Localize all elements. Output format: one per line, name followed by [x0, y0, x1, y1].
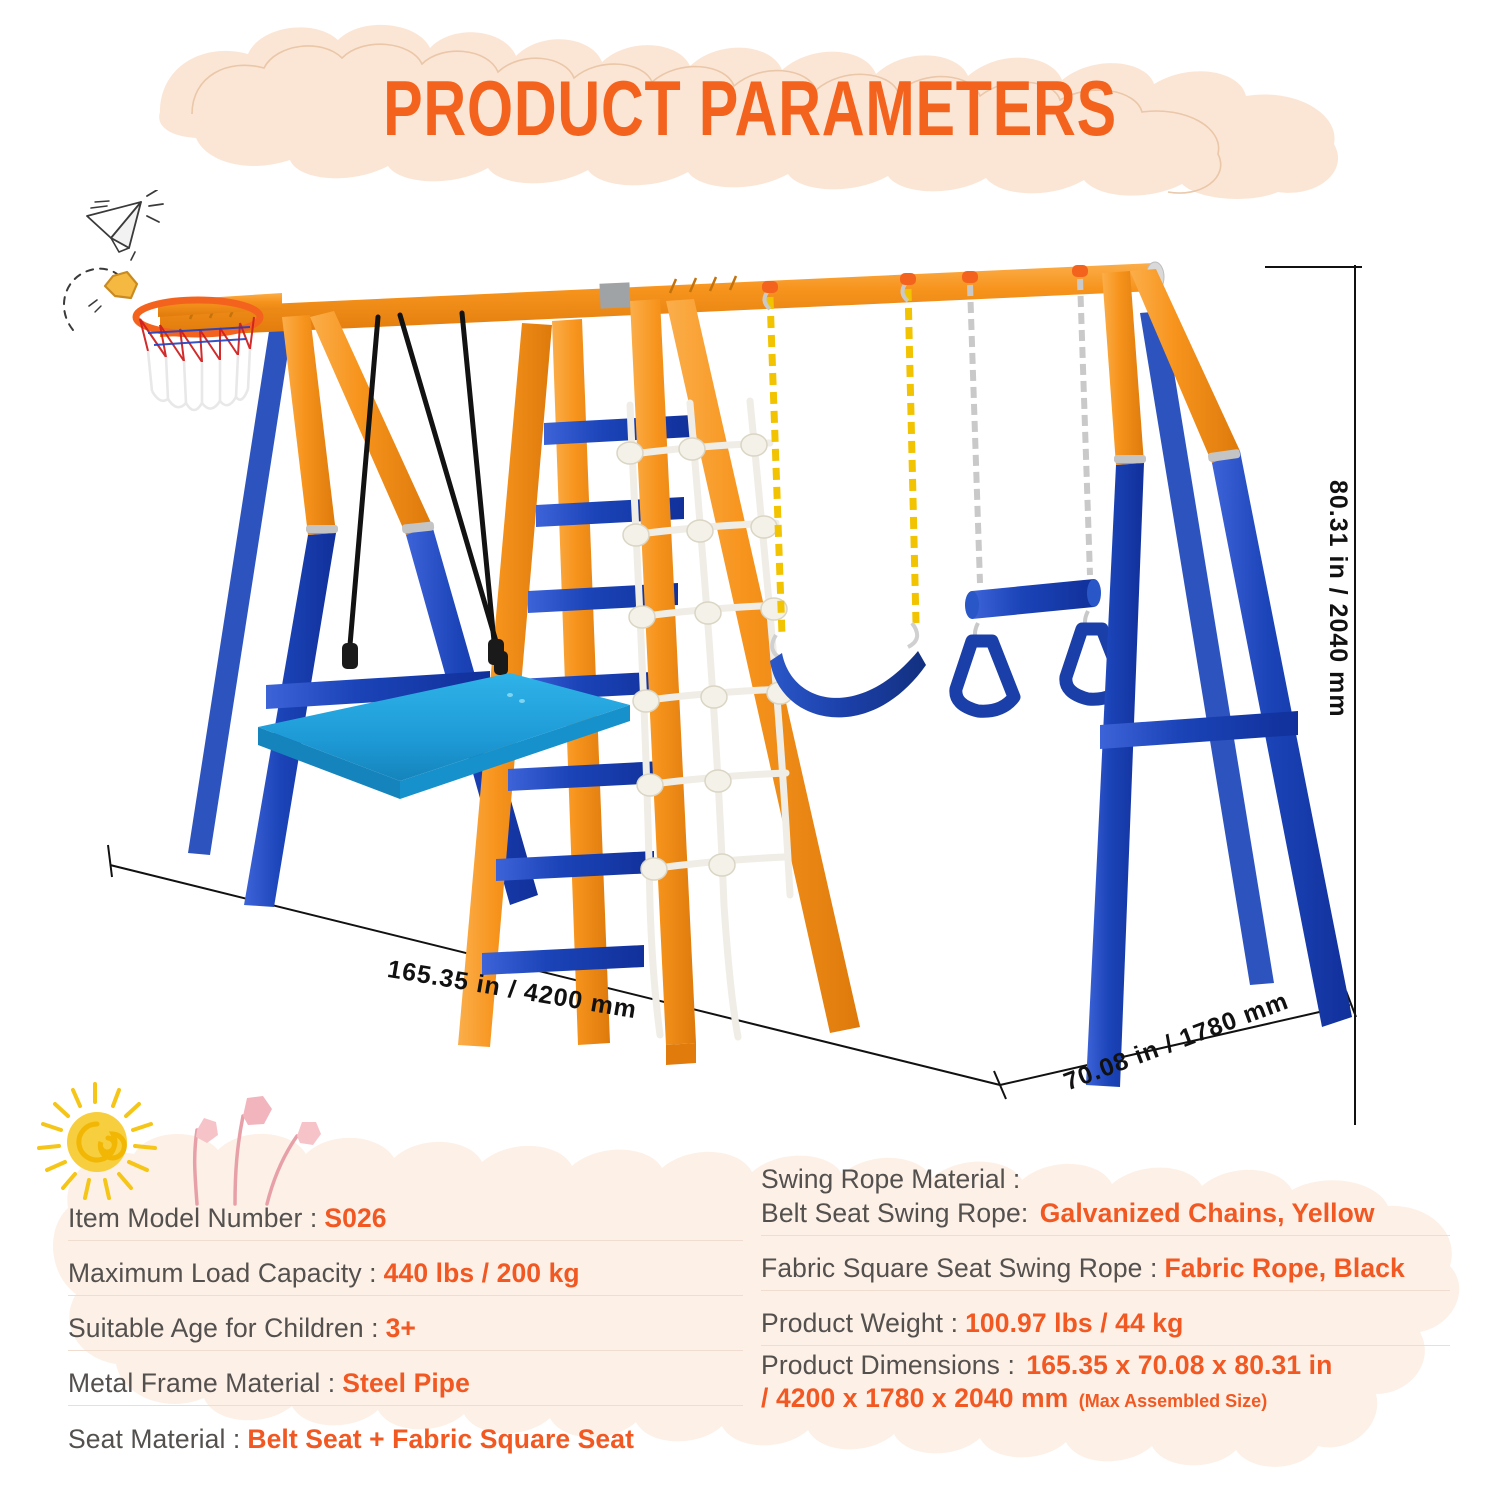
- spec-label: Product Dimensions :: [761, 1350, 1015, 1380]
- spec-row-product-dimensions: Product Dimensions : 165.35 x 70.08 x 80…: [761, 1346, 1450, 1442]
- decor-sun-flowers-group: [35, 1080, 325, 1210]
- spec-column-right: Swing Rope Material : Belt Seat Swing Ro…: [743, 1142, 1450, 1458]
- silver-chain-left: [962, 271, 980, 583]
- spec-row-fabric-square-seat-rope: Fabric Square Seat Swing Rope : Fabric R…: [761, 1236, 1450, 1291]
- spec-value: Steel Pipe: [342, 1368, 470, 1399]
- spec-note: (Max Assembled Size): [1079, 1391, 1267, 1411]
- silver-chain-right: [1072, 265, 1090, 575]
- spec-value: Belt Seat + Fabric Square Seat: [247, 1424, 634, 1455]
- trapeze-bar-with-rings: [956, 265, 1124, 711]
- header-banner: PRODUCT PARAMETERS: [100, 22, 1400, 200]
- belt-seat-swing: [762, 273, 926, 717]
- yellow-chain-right: [900, 273, 916, 623]
- spec-value: 3+: [386, 1313, 416, 1344]
- spec-label: Fabric Square Seat Swing Rope :: [761, 1253, 1157, 1284]
- spec-row-product-weight: Product Weight : 100.97 lbs / 44 kg: [761, 1291, 1450, 1346]
- spec-label: Seat Material :: [68, 1424, 240, 1455]
- spec-value-line2: / 4200 x 1780 x 2040 mm: [761, 1383, 1068, 1413]
- spec-label: Product Weight :: [761, 1308, 958, 1339]
- flowers-icon: [195, 1096, 321, 1204]
- swing-set-drawing: [70, 205, 1470, 1125]
- dimension-height-label: 80.31 in / 2040 mm: [1323, 480, 1352, 718]
- spec-value: 165.35 x 70.08 x 80.31 in: [1026, 1350, 1332, 1380]
- spec-value: 440 lbs / 200 kg: [384, 1258, 580, 1289]
- spec-value: Galvanized Chains, Yellow: [1040, 1198, 1375, 1228]
- page-title: PRODUCT PARAMETERS: [256, 22, 1244, 200]
- spec-row-suitable-age: Suitable Age for Children : 3+: [68, 1296, 743, 1351]
- spec-row-metal-frame-material: Metal Frame Material : Steel Pipe: [68, 1351, 743, 1406]
- spec-label: Belt Seat Swing Rope:: [761, 1198, 1028, 1228]
- product-illustration: [70, 205, 1470, 1125]
- spec-value: Fabric Rope, Black: [1164, 1253, 1404, 1284]
- spec-label: Suitable Age for Children :: [68, 1313, 379, 1344]
- sun-icon: [35, 1080, 325, 1210]
- spec-rope-heading: Swing Rope Material :: [761, 1164, 1450, 1195]
- frame-center-legs: [630, 299, 860, 1065]
- spec-label: Metal Frame Material :: [68, 1368, 335, 1399]
- spec-value: 100.97 lbs / 44 kg: [965, 1308, 1183, 1339]
- spec-row-maximum-load-capacity: Maximum Load Capacity : 440 lbs / 200 kg: [68, 1241, 743, 1296]
- spec-row-swing-rope-material: Swing Rope Material : Belt Seat Swing Ro…: [761, 1144, 1450, 1236]
- spec-row-seat-material: Seat Material : Belt Seat + Fabric Squar…: [68, 1406, 743, 1461]
- spec-label: Maximum Load Capacity :: [68, 1258, 377, 1289]
- spec-value: S026: [324, 1203, 386, 1234]
